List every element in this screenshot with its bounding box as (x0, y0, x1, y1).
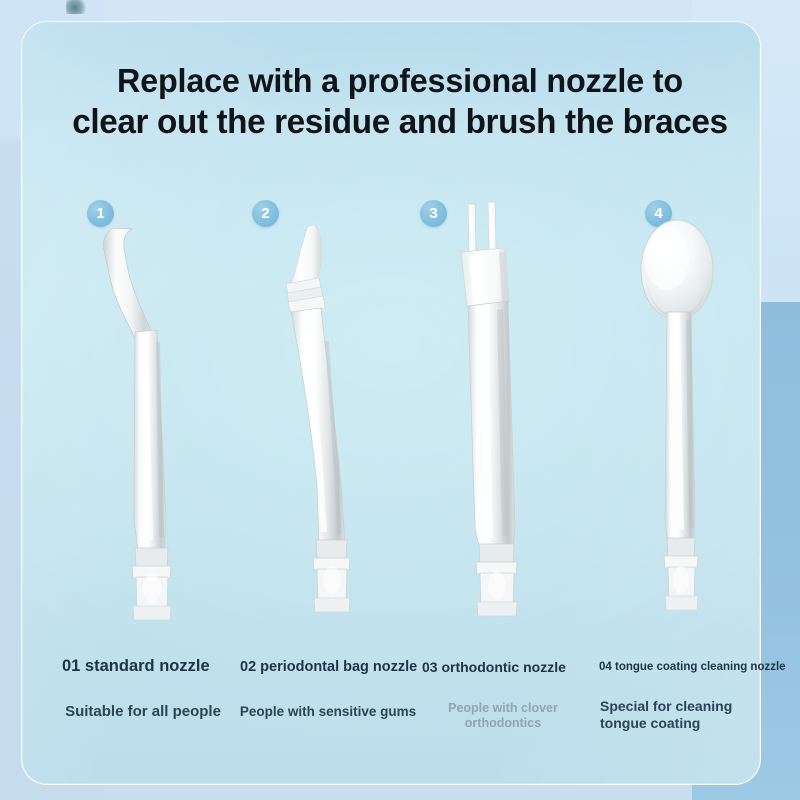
top-speck-artifact (66, 0, 88, 14)
page-title-line-1: Replace with a professional nozzle to (117, 63, 683, 100)
nozzle-label-3: 03 orthodontic nozzle (422, 659, 566, 675)
nozzle-illustration-4 (615, 218, 755, 618)
nozzle-label-4: 04 tongue coating cleaning nozzle (599, 661, 786, 674)
page-title-line-2: clear out the residue and brush the brac… (14, 102, 786, 142)
nozzle-label-2: 02 periodontal bag nozzle (240, 659, 417, 676)
nozzle-illustration-1 (80, 220, 210, 620)
nozzle-subtitle-4: Special for cleaning tongue coating (600, 698, 755, 731)
nozzle-label-1: 01 standard nozzle (62, 657, 210, 676)
product-infographic: Replace with a professional nozzle to cl… (0, 0, 800, 800)
nozzle-subtitle-2: People with sensitive gums (238, 704, 418, 720)
nozzle-illustration-3 (435, 198, 565, 618)
nozzle-subtitle-3: People with clover orthodontics (438, 701, 568, 731)
page-title: Replace with a professional nozzle to cl… (14, 62, 786, 142)
nozzle-subtitle-1: Suitable for all people (58, 703, 228, 721)
nozzle-illustration-2 (255, 222, 385, 622)
